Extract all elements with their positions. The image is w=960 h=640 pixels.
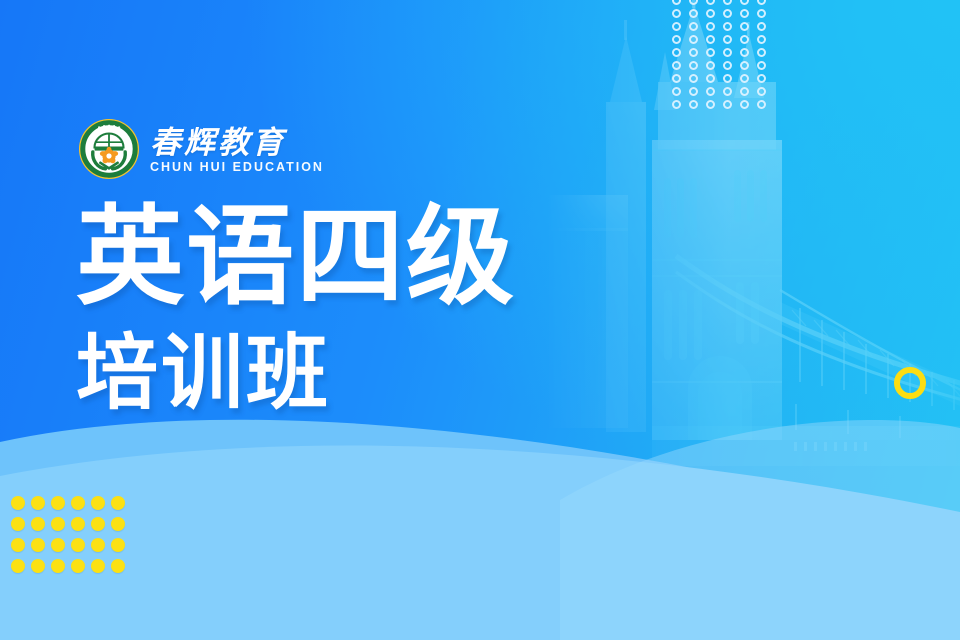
dot: [689, 48, 698, 57]
dot: [740, 9, 749, 18]
dot: [740, 22, 749, 31]
headline-secondary: 培训班: [76, 329, 516, 419]
dot: [31, 559, 45, 573]
dot: [706, 61, 715, 70]
dot: [723, 9, 732, 18]
promo-banner: 春辉教育 CHUN HUI EDUCATION 英语四级 培训班: [0, 0, 960, 640]
dot: [689, 61, 698, 70]
dot: [757, 9, 766, 18]
dot: [723, 74, 732, 83]
dot: [672, 74, 681, 83]
dot: [111, 538, 125, 552]
dot: [706, 0, 715, 5]
dot: [723, 0, 732, 5]
dot: [723, 100, 732, 109]
dot: [31, 517, 45, 531]
dot: [723, 35, 732, 44]
dot: [51, 538, 65, 552]
dot: [740, 35, 749, 44]
dot: [757, 100, 766, 109]
brand-name-cn: 春辉教育: [150, 127, 324, 160]
dot: [31, 496, 45, 510]
dot: [740, 0, 749, 5]
dot: [51, 496, 65, 510]
dot: [672, 35, 681, 44]
dot: [71, 496, 85, 510]
dot: [51, 517, 65, 531]
dot: [689, 0, 698, 5]
ring-dot-grid: [668, 0, 770, 111]
dot: [706, 100, 715, 109]
dot: [706, 87, 715, 96]
dot: [91, 496, 105, 510]
dot: [11, 517, 25, 531]
dot: [689, 22, 698, 31]
dot: [757, 35, 766, 44]
dot: [91, 538, 105, 552]
dot: [672, 48, 681, 57]
dot: [723, 87, 732, 96]
dot: [706, 74, 715, 83]
dot: [111, 559, 125, 573]
dot: [11, 538, 25, 552]
headline-primary: 英语四级: [76, 200, 516, 317]
dot: [111, 517, 125, 531]
chun-hui-education-emblem-icon: [78, 118, 140, 180]
dot: [51, 559, 65, 573]
dot: [706, 22, 715, 31]
dot: [689, 35, 698, 44]
dot: [757, 87, 766, 96]
dot: [672, 22, 681, 31]
dot: [757, 48, 766, 57]
dot: [71, 538, 85, 552]
dot: [706, 48, 715, 57]
dot: [757, 0, 766, 5]
dot: [740, 87, 749, 96]
headline-block: 英语四级 培训班: [76, 200, 516, 419]
dot: [723, 61, 732, 70]
dot: [672, 9, 681, 18]
brand-name-en: CHUN HUI EDUCATION: [150, 161, 324, 174]
dot: [723, 48, 732, 57]
dot: [91, 517, 105, 531]
dot: [672, 100, 681, 109]
dot: [11, 496, 25, 510]
yellow-dot-grid: [8, 492, 128, 576]
dot: [672, 61, 681, 70]
dot: [740, 61, 749, 70]
dot: [740, 74, 749, 83]
brand-wordmark: 春辉教育 CHUN HUI EDUCATION: [150, 125, 324, 174]
dot: [31, 538, 45, 552]
dot: [91, 559, 105, 573]
dot: [71, 559, 85, 573]
dot: [672, 87, 681, 96]
dot: [689, 9, 698, 18]
dot: [740, 48, 749, 57]
dot: [672, 0, 681, 5]
dot: [689, 87, 698, 96]
dot: [757, 61, 766, 70]
dot: [706, 35, 715, 44]
dot: [689, 100, 698, 109]
dot: [740, 100, 749, 109]
dot: [689, 74, 698, 83]
dot: [757, 74, 766, 83]
dot: [757, 22, 766, 31]
dot: [706, 9, 715, 18]
dot: [71, 517, 85, 531]
dot: [111, 496, 125, 510]
dot: [11, 559, 25, 573]
dot: [723, 22, 732, 31]
brand-logo: 春辉教育 CHUN HUI EDUCATION: [78, 118, 324, 180]
